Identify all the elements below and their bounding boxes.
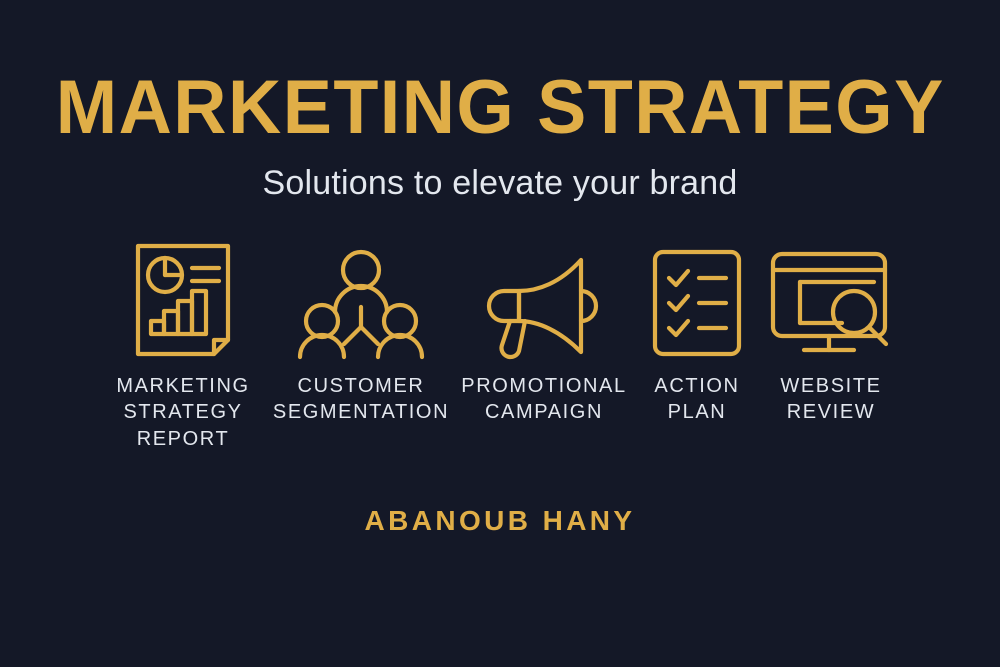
service-label: PROMOTIONAL CAMPAIGN — [451, 373, 637, 426]
poster-canvas: MARKETING STRATEGY Solutions to elevate … — [0, 0, 1000, 667]
page-title: MARKETING STRATEGY — [55, 70, 944, 146]
service-label: ACTION PLAN — [637, 373, 757, 426]
checklist-clipboard-icon — [652, 239, 742, 357]
service-item-action-plan: ACTION PLAN — [637, 239, 757, 426]
services-row: MARKETING STRATEGY REPORT — [60, 239, 940, 452]
service-item-website-review: WEBSITE REVIEW — [757, 239, 905, 426]
service-item-customer-segmentation: CUSTOMER SEGMENTATION — [271, 239, 451, 426]
service-label: MARKETING STRATEGY REPORT — [95, 373, 271, 452]
page-subtitle: Solutions to elevate your brand — [263, 164, 738, 203]
people-group-icon — [304, 239, 418, 357]
monitor-magnifier-icon — [770, 239, 892, 357]
service-label: WEBSITE REVIEW — [757, 373, 905, 426]
megaphone-icon — [488, 239, 600, 357]
service-item-promotional-campaign: PROMOTIONAL CAMPAIGN — [451, 239, 637, 426]
author-name: ABANOUB HANY — [0, 505, 1000, 537]
service-item-marketing-strategy-report: MARKETING STRATEGY REPORT — [95, 239, 271, 452]
service-label: CUSTOMER SEGMENTATION — [271, 373, 451, 426]
report-document-icon — [135, 239, 231, 357]
